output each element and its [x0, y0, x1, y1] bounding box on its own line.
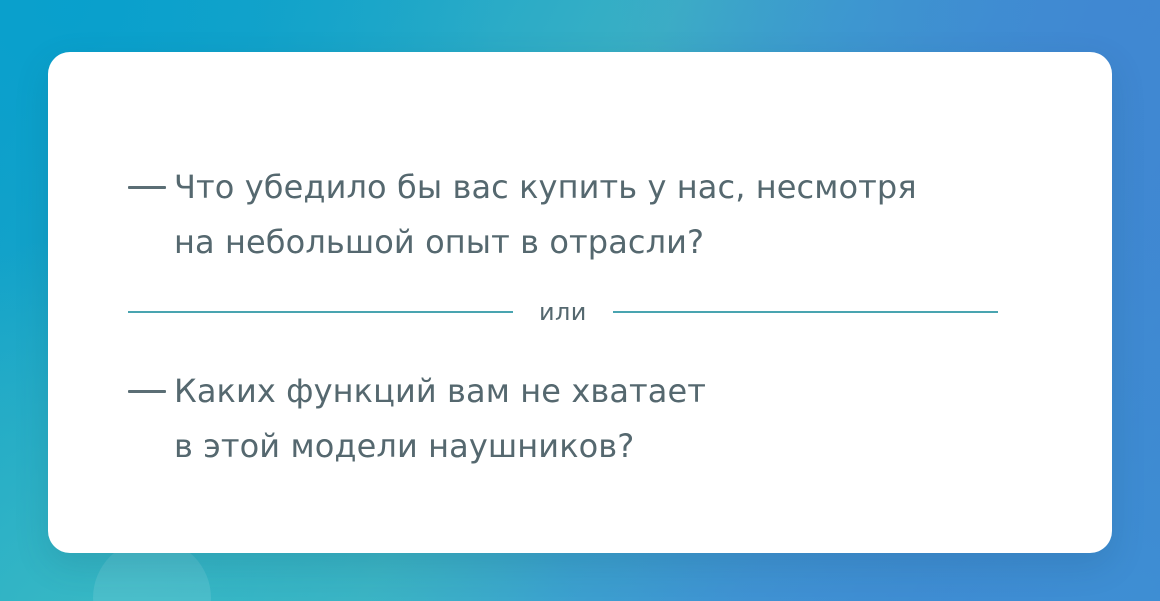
- divider-line-left: [128, 311, 513, 313]
- em-dash-marker-icon: [128, 390, 166, 393]
- question-text-second: Каких функций вам не хватает в этой моде…: [174, 364, 706, 474]
- content-card: Что убедило бы вас купить у нас, несмотр…: [48, 52, 1112, 553]
- question-row: Что убедило бы вас купить у нас, несмотр…: [128, 160, 1078, 270]
- question-row: Каких функций вам не хватает в этой моде…: [128, 364, 1078, 474]
- divider-label: или: [513, 300, 613, 324]
- question-block-second: Каких функций вам не хватает в этой моде…: [128, 364, 1078, 474]
- question-block-first: Что убедило бы вас купить у нас, несмотр…: [128, 160, 1078, 270]
- question-text-first: Что убедило бы вас купить у нас, несмотр…: [174, 160, 917, 270]
- divider-line-right: [613, 311, 998, 313]
- em-dash-marker-icon: [128, 186, 166, 189]
- divider: или: [128, 300, 1078, 324]
